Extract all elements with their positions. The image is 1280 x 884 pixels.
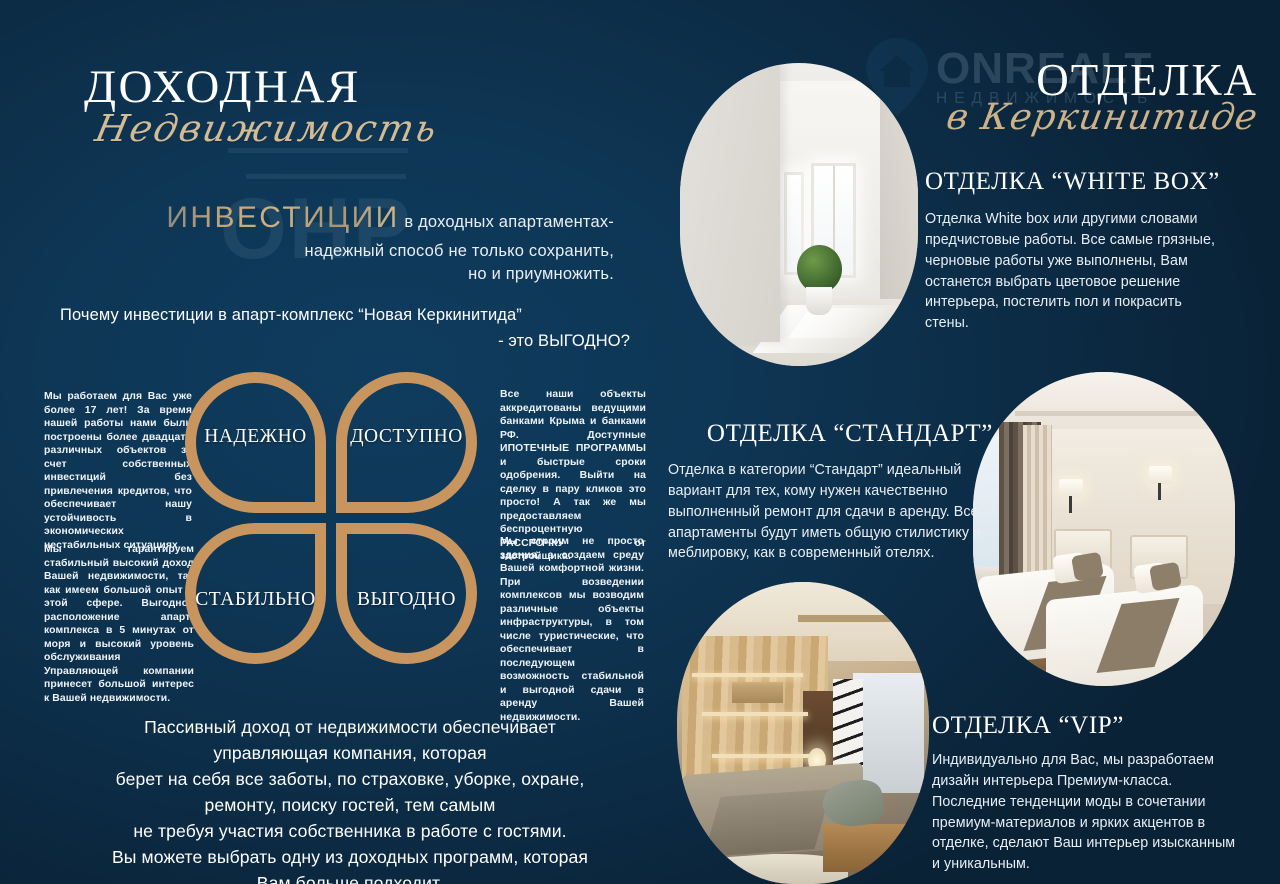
page-subtitle-script: Недвижимость bbox=[91, 107, 442, 150]
section-white-box: ОТДЕЛКА “WHITE BOX” Отделка White box ил… bbox=[925, 168, 1225, 334]
photo3-bench bbox=[823, 824, 909, 872]
section-heading-white-box: ОТДЕЛКА “WHITE BOX” bbox=[925, 168, 1225, 196]
photo2-sconce-arm-left bbox=[1069, 496, 1072, 513]
photo3-window-wall bbox=[853, 673, 924, 794]
why-invest-line2: - это ВЫГОДНО? bbox=[60, 329, 630, 355]
petal-dostupno: ДОСТУПНО bbox=[336, 372, 477, 513]
benefit-text-profitable: Мы строим не просто здания, а создаем ср… bbox=[500, 535, 644, 724]
investment-tagline: ИНВЕСТИЦИИ в доходных апартаментах- наде… bbox=[54, 196, 614, 287]
photo1-plant-pot bbox=[806, 287, 832, 314]
photo3-led-strip-3 bbox=[712, 754, 818, 758]
petal-label-nadezhno: НАДЕЖНО bbox=[204, 426, 307, 448]
right-column: ОТДЕЛКА в Керкинитиде ОТДЕЛКА “WHITE BOX… bbox=[660, 0, 1280, 884]
section-body-standart: Отделка в категории “Стандарт” идеальный… bbox=[668, 460, 993, 564]
section-vip: ОТДЕЛКА “VIP” Индивидуально для Вас, мы … bbox=[932, 712, 1242, 875]
petal-nadezhno: НАДЕЖНО bbox=[185, 372, 326, 513]
benefits-flower-diagram: НАДЕЖНО ДОСТУПНО СТАБИЛЬНО ВЫГОДНО bbox=[185, 372, 477, 664]
photo3-bed-throw bbox=[704, 790, 832, 858]
why-invest-question: Почему инвестиции в апарт-комплекс “Нова… bbox=[60, 303, 630, 354]
passive-income-line-1: Пассивный доход от недвижимости обеспечи… bbox=[40, 714, 660, 740]
photo2-wall-sconce-left bbox=[1059, 479, 1083, 514]
left-column: ДОХОДНАЯ Недвижимость ИНВЕСТИЦИИ в доход… bbox=[0, 0, 660, 884]
investment-line2: надежный способ не только сохранить, bbox=[54, 240, 614, 264]
finishing-subtitle-script: в Керкинитиде bbox=[944, 97, 1262, 138]
photo2-sconce-shade-right bbox=[1149, 466, 1173, 484]
photo2-scene bbox=[973, 372, 1235, 686]
passive-income-line-5: не требуя участия собственника в работе … bbox=[40, 818, 660, 844]
photo3-scene bbox=[677, 582, 929, 884]
benefit-text-reliable: Мы работаем для Вас уже более 17 лет! За… bbox=[44, 390, 192, 552]
investment-line3: но и приумножить. bbox=[54, 263, 614, 287]
photo2-sconce-shade-left bbox=[1059, 479, 1083, 497]
petal-label-vygodno: ВЫГОДНО bbox=[357, 589, 456, 611]
passive-income-paragraph: Пассивный доход от недвижимости обеспечи… bbox=[40, 714, 660, 884]
section-body-vip: Индивидуально для Вас, мы разработаем ди… bbox=[932, 750, 1242, 875]
empty-white-room-photo bbox=[680, 63, 918, 366]
photo3-led-strip-1 bbox=[692, 673, 803, 677]
photo1-left-wall bbox=[680, 63, 780, 342]
passive-income-line-7: Вам больше подходит. bbox=[40, 870, 660, 884]
photo2-wall-sconce-right bbox=[1149, 466, 1173, 501]
investment-line1-rest: в доходных апартаментах- bbox=[400, 213, 614, 231]
passive-income-line-4: ремонту, поиску гостей, тем самым bbox=[40, 792, 660, 818]
photo1-scene bbox=[680, 63, 918, 366]
section-heading-vip: ОТДЕЛКА “VIP” bbox=[932, 712, 1242, 740]
page-title: ДОХОДНАЯ bbox=[84, 64, 361, 111]
passive-income-line-3: берет на себя все заботы, по страховке, … bbox=[40, 766, 660, 792]
petal-label-stabilno: СТАБИЛЬНО bbox=[195, 589, 315, 611]
why-invest-line1: Почему инвестиции в апарт-комплекс “Нова… bbox=[60, 306, 522, 324]
photo3-wood-panel-a bbox=[732, 682, 782, 703]
passive-income-line-2: управляющая компания, которая bbox=[40, 740, 660, 766]
vip-wooden-bedroom-photo bbox=[677, 582, 929, 884]
section-body-white-box: Отделка White box или другими словами пр… bbox=[925, 209, 1225, 334]
photo2-cushion-left bbox=[1071, 552, 1104, 582]
benefit-text-stable: Мы гарантируем стабильный высокий доход … bbox=[44, 543, 194, 705]
petal-label-dostupno: ДОСТУПНО bbox=[350, 426, 463, 448]
photo2-sconce-arm-right bbox=[1158, 483, 1161, 500]
passive-income-line-6: Вы можете выбрать одну из доходных прогр… bbox=[40, 844, 660, 870]
photo1-plant-foliage bbox=[797, 245, 842, 293]
section-heading-standart: ОТДЕЛКА “СТАНДАРТ” bbox=[668, 420, 993, 448]
brochure-page: ONREALT НЕДВИЖИМОСТЬ ОНР ДОХОДНАЯ Недвиж… bbox=[0, 0, 1280, 884]
section-standart: ОТДЕЛКА “СТАНДАРТ” Отделка в категории “… bbox=[668, 420, 993, 564]
investment-keyword: ИНВЕСТИЦИИ bbox=[166, 201, 399, 234]
photo3-led-strip-2 bbox=[702, 712, 808, 716]
hotel-twin-bedroom-photo bbox=[973, 372, 1235, 686]
petal-stabilno: СТАБИЛЬНО bbox=[185, 523, 326, 664]
photo2-cushion-right bbox=[1149, 561, 1182, 591]
petal-vygodno: ВЫГОДНО bbox=[336, 523, 477, 664]
